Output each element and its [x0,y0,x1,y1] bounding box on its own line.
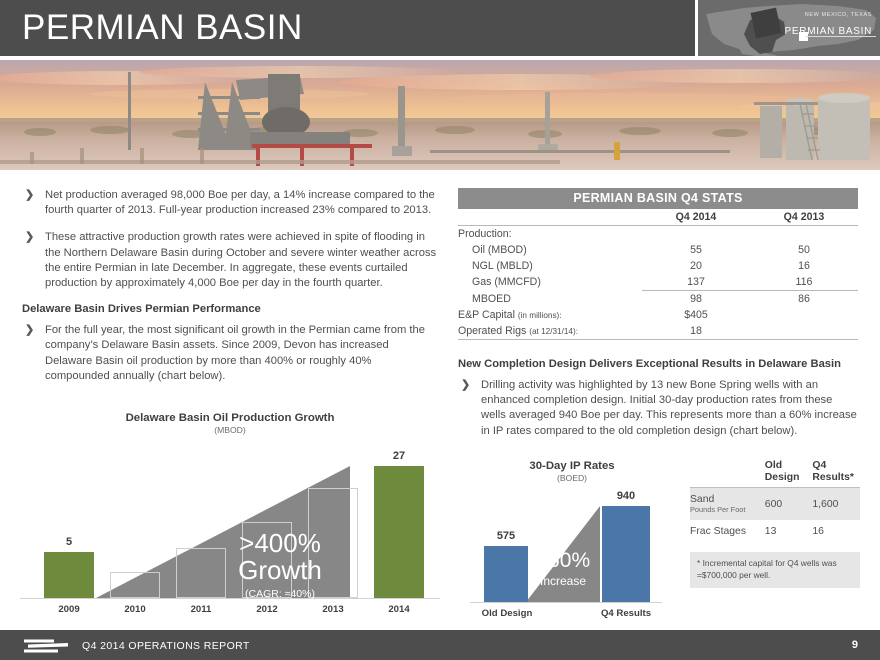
stats-table-title: PERMIAN BASIN Q4 STATS [458,188,858,209]
page-header: PERMIAN BASIN NEW MEXICO, TEXAS PERMIAN … [0,0,880,56]
table-header-row: Q4 2014 Q4 2013 [458,209,858,226]
bar-value-2009: 5 [44,536,94,548]
chart-subtitle: (BOED) [462,473,682,483]
x-label-2010: 2010 [110,604,160,615]
oilfield-photo-banner [0,60,880,170]
delaware-section-heading: Delaware Basin Drives Permian Performanc… [22,303,437,315]
row-value-q4-2013 [750,226,858,243]
row-value-old: 13 [765,520,813,543]
column-header-line1: Old [765,460,782,471]
bullet-item: ❯ Drilling activity was highlighted by 1… [458,378,858,439]
row-value-q4: 1,600 [812,488,860,521]
row-label-note: (at 12/31/14): [529,327,578,336]
bullet-item: ❯ Net production averaged 98,000 Boe per… [22,188,437,218]
table-row: E&P Capital (in millions): $405 [458,307,858,323]
bullet-text: These attractive production growth rates… [45,230,437,291]
chart-title: Delaware Basin Oil Production Growth [20,412,440,424]
completion-section-heading: New Completion Design Delivers Exception… [458,358,858,370]
bullet-text: Net production averaged 98,000 Boe per d… [45,188,437,218]
table-row: Gas (MMCFD) 137 116 [458,274,858,291]
row-value-q4: 16 [812,520,860,543]
delaware-production-chart: Delaware Basin Oil Production Growth (MB… [20,412,440,612]
row-label-sub: Pounds Per Foot [690,505,765,514]
table-row: Frac Stages 13 16 [690,520,860,543]
growth-annotation-line2: Growth [200,557,360,584]
bullet-arrow-icon: ❯ [22,230,45,291]
column-header-line1: Q4 [812,460,826,471]
column-header-blank [690,460,765,488]
bullet-arrow-icon: ❯ [22,323,45,384]
completion-design-table: Old Design Q4 Results* Sand Pounds Per F… [690,460,860,588]
bullet-item: ❯ These attractive production growth rat… [22,230,437,291]
table-row: Operated Rigs (at 12/31/14): 18 [458,323,858,340]
left-text-column: ❯ Net production averaged 98,000 Boe per… [22,188,437,396]
table-row: NGL (MBLD) 20 16 [458,258,858,274]
row-label: Frac Stages [690,520,765,543]
oilfield-sunset-image [0,60,880,170]
row-label: NGL (MBLD) [458,258,642,274]
bar-outline-2010 [110,572,160,598]
table-row: Sand Pounds Per Foot 600 1,600 [690,488,860,521]
bullet-text: For the full year, the most significant … [45,323,437,384]
bar-value-2014: 27 [374,450,424,462]
row-label: E&P Capital (in millions): [458,307,642,323]
row-value-q4-2013 [750,307,858,323]
row-value-q4-2013: 116 [750,274,858,291]
row-value-old: 600 [765,488,813,521]
x-label-q4-results: Q4 Results [590,608,662,619]
row-value-q4-2014: 55 [642,242,750,258]
map-inset: NEW MEXICO, TEXAS PERMIAN BASIN [698,0,880,56]
permian-q4-stats-table: Q4 2014 Q4 2013 Production: Oil (MBOD) 5… [458,209,858,340]
bar-2014 [374,466,424,598]
column-header-q4-2013: Q4 2013 [750,209,858,226]
x-label-2009: 2009 [44,604,94,615]
x-label-2013: 2013 [308,604,358,615]
bar-value-old-design: 575 [480,530,532,542]
page-title: PERMIAN BASIN [22,8,303,48]
row-value-q4-2013: 16 [750,258,858,274]
row-label: Operated Rigs (at 12/31/14): [458,323,642,340]
x-label-2012: 2012 [242,604,292,615]
footer-page-number: 9 [852,639,858,651]
table-footnote: * Incremental capital for Q4 wells was =… [690,552,860,588]
x-label-2014: 2014 [374,604,424,615]
map-sub-label: NEW MEXICO, TEXAS [805,12,872,18]
row-value-q4-2014: $405 [642,307,750,323]
ip-rates-chart: 30-Day IP Rates (BOED) 575 940 >60% Incr… [462,460,682,615]
row-value-q4-2014: 137 [642,274,750,291]
bullet-item: ❯ For the full year, the most significan… [22,323,437,384]
bullet-arrow-icon: ❯ [22,188,45,218]
x-label-2011: 2011 [176,604,226,615]
column-header-q4-results: Q4 Results* [812,460,860,488]
row-value-q4-2014: 98 [642,291,750,308]
growth-annotation-cagr: (CAGR: ≈40%) [200,588,360,600]
bullet-arrow-icon: ❯ [458,378,481,439]
row-label-text: E&P Capital [458,309,515,321]
row-label: Oil (MBOD) [458,242,642,258]
devon-logo-icon [22,638,70,654]
column-header-blank [458,209,642,226]
row-label-text: Sand [690,494,714,505]
row-value-q4-2014: 18 [642,323,750,340]
bar-value-q4-results: 940 [600,490,652,502]
bar-q4-results [602,506,650,602]
row-label: Production: [458,226,642,243]
bullet-text: Drilling activity was highlighted by 13 … [481,378,858,439]
row-value-q4-2014: 20 [642,258,750,274]
table-row: Oil (MBOD) 55 50 [458,242,858,258]
chart-title: 30-Day IP Rates [462,460,682,472]
column-header-old-design: Old Design [765,460,813,488]
x-label-old-design: Old Design [472,608,542,619]
row-label: Sand Pounds Per Foot [690,488,765,521]
column-header-line2: Results* [812,472,854,483]
row-value-q4-2013 [750,323,858,340]
row-value-q4-2014 [642,226,750,243]
map-main-label: PERMIAN BASIN [785,26,872,37]
chart-subtitle: (MBOD) [20,425,440,435]
row-label: MBOED [458,291,642,308]
increase-annotation-line2: Increase [520,574,606,588]
column-header-q4-2014: Q4 2014 [642,209,750,226]
table-row: MBOED 98 86 [458,291,858,308]
table-row: Production: [458,226,858,243]
row-label-note: (in millions): [518,311,562,320]
increase-annotation-line1: >60% [520,550,606,572]
bar-2009 [44,552,94,598]
row-value-q4-2013: 50 [750,242,858,258]
row-label: Gas (MMCFD) [458,274,642,291]
table-header-row: Old Design Q4 Results* [690,460,860,488]
footer-report-label: Q4 2014 OPERATIONS REPORT [82,640,250,652]
column-header-line2: Design [765,472,800,483]
row-label-text: Operated Rigs [458,325,526,337]
right-content-column: PERMIAN BASIN Q4 STATS Q4 2014 Q4 2013 P… [458,188,858,451]
growth-annotation-line1: >400% [200,530,360,557]
slide-page: PERMIAN BASIN NEW MEXICO, TEXAS PERMIAN … [0,0,880,660]
row-value-q4-2013: 86 [750,291,858,308]
